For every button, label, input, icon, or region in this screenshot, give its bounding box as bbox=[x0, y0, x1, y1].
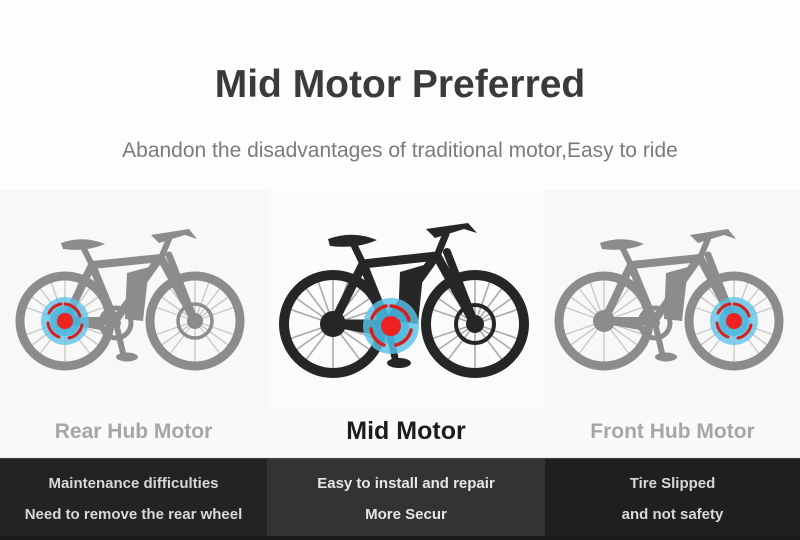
bike-cell-mid-motor bbox=[267, 190, 545, 406]
promo-banner: Mid Motor Preferred Abandon the disadvan… bbox=[0, 0, 800, 540]
motor-name-label: Front Hub Motor bbox=[590, 420, 754, 444]
motor-highlight-icon bbox=[363, 298, 419, 354]
motor-highlight-icon bbox=[41, 297, 89, 345]
bicycle-rear-hub-icon bbox=[9, 203, 259, 393]
notes-cell-front-hub-motor: Tire Slipped and not safety bbox=[545, 458, 800, 540]
bottom-edge bbox=[0, 536, 800, 540]
motor-notes-row: Maintenance difficulties Need to remove … bbox=[0, 458, 800, 540]
motor-names-row: Rear Hub Motor Mid Motor Front Hub Motor bbox=[0, 406, 800, 458]
note-line: and not safety bbox=[622, 499, 724, 530]
bicycle-front-hub-icon bbox=[548, 203, 798, 393]
bike-cell-rear-hub-motor bbox=[0, 190, 267, 406]
motor-name-label-featured: Mid Motor bbox=[346, 417, 465, 446]
note-line: Easy to install and repair bbox=[317, 468, 495, 499]
motor-name-front-hub-motor[interactable]: Front Hub Motor bbox=[545, 406, 800, 457]
bike-cell-front-hub-motor bbox=[545, 190, 800, 406]
motor-name-mid-motor[interactable]: Mid Motor bbox=[267, 406, 545, 457]
page-subtitle: Abandon the disadvantages of traditional… bbox=[0, 138, 800, 164]
note-line: More Secur bbox=[365, 499, 447, 530]
motor-name-rear-hub-motor[interactable]: Rear Hub Motor bbox=[0, 406, 267, 457]
note-line: Maintenance difficulties bbox=[48, 468, 218, 499]
motor-name-label: Rear Hub Motor bbox=[55, 420, 213, 444]
bicycle-mid-motor-icon bbox=[271, 198, 541, 398]
page-title: Mid Motor Preferred bbox=[0, 62, 800, 108]
motor-highlight-icon bbox=[710, 297, 758, 345]
bike-illustration-row bbox=[0, 190, 800, 406]
note-line: Tire Slipped bbox=[630, 468, 716, 499]
note-line: Need to remove the rear wheel bbox=[25, 499, 243, 530]
notes-cell-rear-hub-motor: Maintenance difficulties Need to remove … bbox=[0, 458, 267, 540]
header-section: Mid Motor Preferred Abandon the disadvan… bbox=[0, 0, 800, 190]
notes-cell-mid-motor: Easy to install and repair More Secur bbox=[267, 458, 545, 540]
